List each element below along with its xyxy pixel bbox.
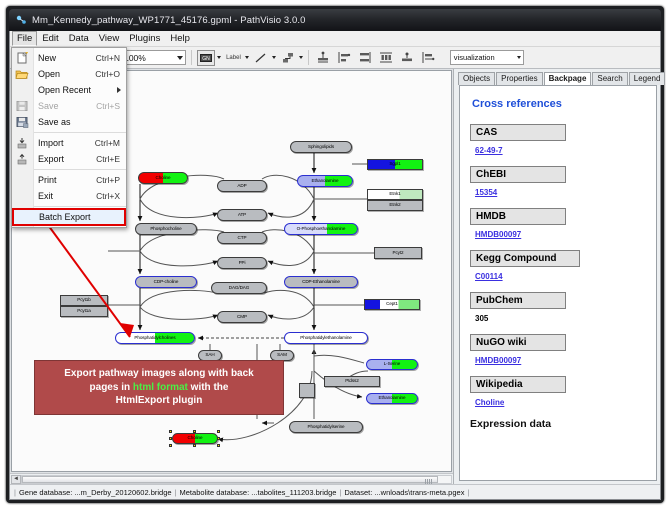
- align-top-icon[interactable]: [314, 50, 332, 66]
- xref-link-nugo[interactable]: HMDB00097: [475, 356, 521, 365]
- side-panel: Objects Properties Backpage Search Legen…: [454, 69, 660, 484]
- menu-item-label: Open Recent: [34, 85, 126, 95]
- statusbar-divider: |: [175, 488, 177, 497]
- interaction-tool-group[interactable]: [279, 50, 303, 66]
- xref-value-cas[interactable]: 62-49-7: [475, 146, 648, 155]
- import-icon: [15, 137, 29, 149]
- visualization-value: visualization: [454, 53, 495, 62]
- toolbar-divider: [308, 50, 309, 65]
- interaction-icon[interactable]: [279, 50, 297, 66]
- save-as-icon: [15, 116, 29, 128]
- xref-header-pubchem: PubChem: [470, 292, 566, 309]
- callout-line3: HtmlExport plugin: [116, 395, 203, 406]
- menu-item-label: Export: [34, 154, 96, 164]
- menu-item-open-recent[interactable]: Open Recent: [12, 82, 126, 98]
- callout-line2-pre: pages in: [90, 382, 133, 393]
- xref-value-hmdb[interactable]: HMDB00097: [475, 230, 648, 239]
- menu-help-label: Help: [170, 34, 190, 44]
- xref-value-wikipedia[interactable]: Choline: [475, 398, 648, 407]
- tab-label: Objects: [463, 74, 490, 83]
- zoom-combo[interactable]: 100%: [120, 50, 186, 65]
- menu-item-label: Print: [34, 175, 96, 185]
- datanode-tool-group[interactable]: GN: [197, 50, 221, 66]
- menu-item-accelerator: Ctrl+X: [96, 191, 126, 201]
- line-icon[interactable]: [252, 50, 270, 66]
- xref-link-hmdb[interactable]: HMDB00097: [475, 230, 521, 239]
- status-gene-database: Gene database: ...m_Derby_20120602.bridg…: [19, 488, 172, 497]
- xref-link-chebi[interactable]: 15354: [475, 188, 497, 197]
- chevron-down-icon: [517, 56, 521, 59]
- menu-item-export[interactable]: Export Ctrl+E: [12, 151, 126, 167]
- chevron-down-icon[interactable]: [299, 56, 303, 59]
- menu-view[interactable]: View: [94, 31, 124, 46]
- xref-header-hmdb: HMDB: [470, 208, 566, 225]
- scrollbar-thumb[interactable]: [22, 476, 438, 483]
- export-icon: [15, 153, 29, 165]
- menu-plugins-label: Plugins: [129, 34, 160, 44]
- menu-divider: [34, 132, 126, 133]
- tab-objects[interactable]: Objects: [458, 72, 495, 85]
- annotation-callout: Export pathway images along with back pa…: [34, 360, 284, 415]
- menu-edit-label: Edit: [42, 34, 58, 44]
- side-panel-tabs: Objects Properties Backpage Search Legen…: [454, 69, 660, 85]
- statusbar-divider: |: [467, 488, 469, 497]
- callout-line2-post: with the: [188, 382, 229, 393]
- menu-item-open[interactable]: Open Ctrl+O: [12, 66, 126, 82]
- menu-plugins[interactable]: Plugins: [124, 31, 165, 46]
- tab-label: Legend: [634, 74, 661, 83]
- statusbar-divider: |: [339, 488, 341, 497]
- svg-text:GN: GN: [202, 56, 210, 62]
- callout-line1: Export pathway images along with back: [64, 368, 254, 379]
- menu-item-label: New: [34, 53, 96, 63]
- scroll-left-icon[interactable]: ◄: [11, 475, 21, 484]
- status-dataset: Dataset: ...wnloads\trans-meta.pgex: [344, 488, 464, 497]
- window-title: Mm_Kennedy_pathway_WP1771_45176.gpml - P…: [32, 15, 306, 26]
- menu-item-label: Import: [34, 138, 95, 148]
- align-middle-icon[interactable]: [356, 50, 374, 66]
- screenshot-root: Mm_Kennedy_pathway_WP1771_45176.gpml - P…: [0, 0, 670, 509]
- menu-help[interactable]: Help: [165, 31, 195, 46]
- menu-item-accelerator: Ctrl+O: [95, 69, 126, 79]
- menubar: File Edit Data View Plugins Help: [10, 31, 660, 47]
- menu-item-label: Save as: [34, 117, 120, 127]
- xref-header-cas: CAS: [470, 124, 566, 141]
- menu-item-batch-export[interactable]: Batch Export: [13, 209, 125, 225]
- callout-line2-highlight: html format: [133, 382, 188, 393]
- menu-item-label: Exit: [34, 191, 96, 201]
- xref-value-kegg[interactable]: C00114: [475, 272, 648, 281]
- tab-label: Search: [597, 74, 622, 83]
- menu-edit[interactable]: Edit: [37, 31, 63, 46]
- expression-data-heading: Expression data: [470, 418, 648, 430]
- chevron-down-icon[interactable]: [245, 56, 249, 59]
- xref-value-nugo[interactable]: HMDB00097: [475, 356, 648, 365]
- menu-item-import[interactable]: Import Ctrl+M: [12, 135, 126, 151]
- menu-item-accelerator: Ctrl+M: [95, 138, 126, 148]
- menu-data-label: Data: [69, 34, 89, 44]
- xref-header-kegg: Kegg Compound: [470, 250, 580, 267]
- menu-item-label: Save: [34, 101, 96, 111]
- window-titlebar[interactable]: Mm_Kennedy_pathway_WP1771_45176.gpml - P…: [9, 9, 661, 31]
- new-document-icon: [15, 52, 29, 64]
- menu-item-label: Open: [34, 69, 95, 79]
- tab-legend[interactable]: Legend: [629, 72, 666, 85]
- tab-properties[interactable]: Properties: [496, 72, 542, 85]
- xref-value-chebi[interactable]: 15354: [475, 188, 648, 197]
- menu-view-label: View: [99, 34, 119, 44]
- chevron-down-icon[interactable]: [217, 56, 221, 59]
- pathvisio-icon: [15, 14, 27, 26]
- tab-label: Properties: [501, 74, 537, 83]
- menu-item-label: Batch Export: [35, 212, 119, 222]
- menu-file-label: File: [17, 34, 32, 44]
- folder-open-icon: [15, 68, 29, 80]
- xref-link-cas[interactable]: 62-49-7: [475, 146, 503, 155]
- chevron-right-icon: [117, 87, 121, 93]
- menu-item-accelerator: Ctrl+P: [96, 175, 126, 185]
- scrollbar-grip-icon: [425, 479, 432, 484]
- chevron-down-icon[interactable]: [272, 56, 276, 59]
- menu-item-accelerator: Ctrl+E: [96, 154, 126, 164]
- zoom-value: 100%: [124, 53, 146, 63]
- menu-item-accelerator: Ctrl+S: [96, 101, 126, 111]
- label-tool-group[interactable]: Label: [224, 50, 249, 66]
- tab-label: Backpage: [549, 74, 587, 83]
- menu-divider: [34, 206, 126, 207]
- xref-header-nugo: NuGO wiki: [470, 334, 566, 351]
- status-metabolite-database: Metabolite database: ...tabolites_111203…: [180, 488, 337, 497]
- menu-item-save-as[interactable]: Save as: [12, 114, 126, 130]
- tab-backpage[interactable]: Backpage: [544, 72, 592, 86]
- same-width-icon[interactable]: [398, 50, 416, 66]
- menu-item-new[interactable]: New Ctrl+N: [12, 50, 126, 66]
- menu-file[interactable]: File: [12, 31, 37, 46]
- distribute-icon[interactable]: [377, 50, 395, 66]
- xref-link-kegg[interactable]: C00114: [475, 272, 503, 281]
- visualization-combo[interactable]: visualization: [450, 50, 524, 65]
- menu-item-accelerator: Ctrl+N: [96, 53, 126, 63]
- datanode-icon[interactable]: GN: [197, 50, 215, 66]
- backpage-heading: Cross references: [472, 98, 648, 110]
- xref-header-chebi: ChEBI: [470, 166, 566, 183]
- menu-item-print[interactable]: Print Ctrl+P: [12, 172, 126, 188]
- xref-link-wikipedia[interactable]: Choline: [475, 398, 504, 407]
- align-left-icon[interactable]: [335, 50, 353, 66]
- statusbar-divider: |: [14, 488, 16, 497]
- file-menu-popup[interactable]: New Ctrl+N Open Ctrl+O Open Recent Save …: [11, 47, 127, 228]
- xref-value-pubchem: 305: [475, 314, 648, 323]
- stack-icon[interactable]: [419, 50, 437, 66]
- menu-item-save: Save Ctrl+S: [12, 98, 126, 114]
- line-tool-group[interactable]: [252, 50, 276, 66]
- scrollbar-track[interactable]: [21, 475, 452, 484]
- xref-header-wikipedia: Wikipedia: [470, 376, 566, 393]
- backpage-panel[interactable]: Cross references CAS 62-49-7 ChEBI 15354…: [459, 85, 657, 481]
- canvas-horizontal-scrollbar[interactable]: ◄: [10, 473, 453, 484]
- statusbar: | Gene database: ...m_Derby_20120602.bri…: [10, 484, 660, 499]
- label-icon[interactable]: Label: [224, 50, 243, 66]
- toolbar-divider: [191, 50, 192, 65]
- tab-search[interactable]: Search: [592, 72, 627, 85]
- menu-divider: [34, 169, 126, 170]
- menu-item-exit[interactable]: Exit Ctrl+X: [12, 188, 126, 204]
- chevron-down-icon: [177, 56, 183, 60]
- menu-data[interactable]: Data: [64, 31, 94, 46]
- floppy-disk-icon: [15, 100, 29, 112]
